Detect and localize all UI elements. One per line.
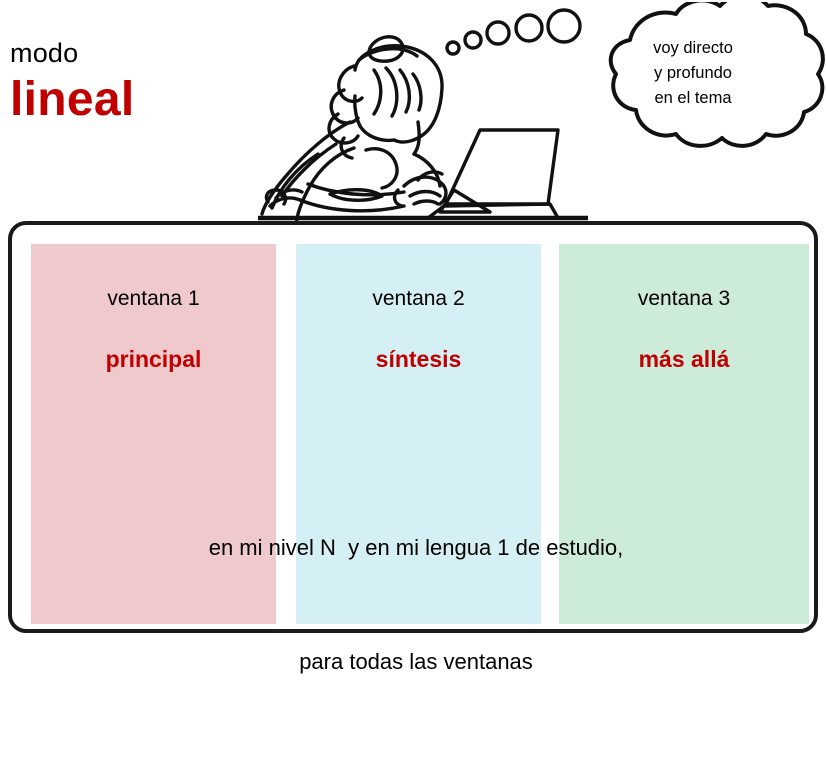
thought-cloud-icon: voy directo y profundo en el tema: [560, 2, 826, 168]
window-column-1[interactable]: ventana 1 principal: [31, 244, 276, 624]
window-1-title: principal: [31, 344, 276, 374]
window-1-head: ventana 1: [31, 286, 276, 312]
footer-line-2: para todas las ventanas: [16, 643, 816, 681]
person-at-laptop-icon: [258, 4, 588, 226]
window-3-head: ventana 3: [559, 286, 809, 312]
window-2-title: síntesis: [296, 344, 541, 374]
mode-label: modo: [10, 36, 260, 70]
windows-panel: ventana 1 principal ventana 2 síntesis v…: [8, 221, 818, 633]
window-column-3[interactable]: ventana 3 más allá: [559, 244, 809, 624]
mode-value: lineal: [10, 72, 260, 128]
window-2-head: ventana 2: [296, 286, 541, 312]
title-block: modo lineal: [10, 36, 260, 128]
window-3-title: más allá: [559, 344, 809, 374]
window-column-2[interactable]: ventana 2 síntesis: [296, 244, 541, 624]
